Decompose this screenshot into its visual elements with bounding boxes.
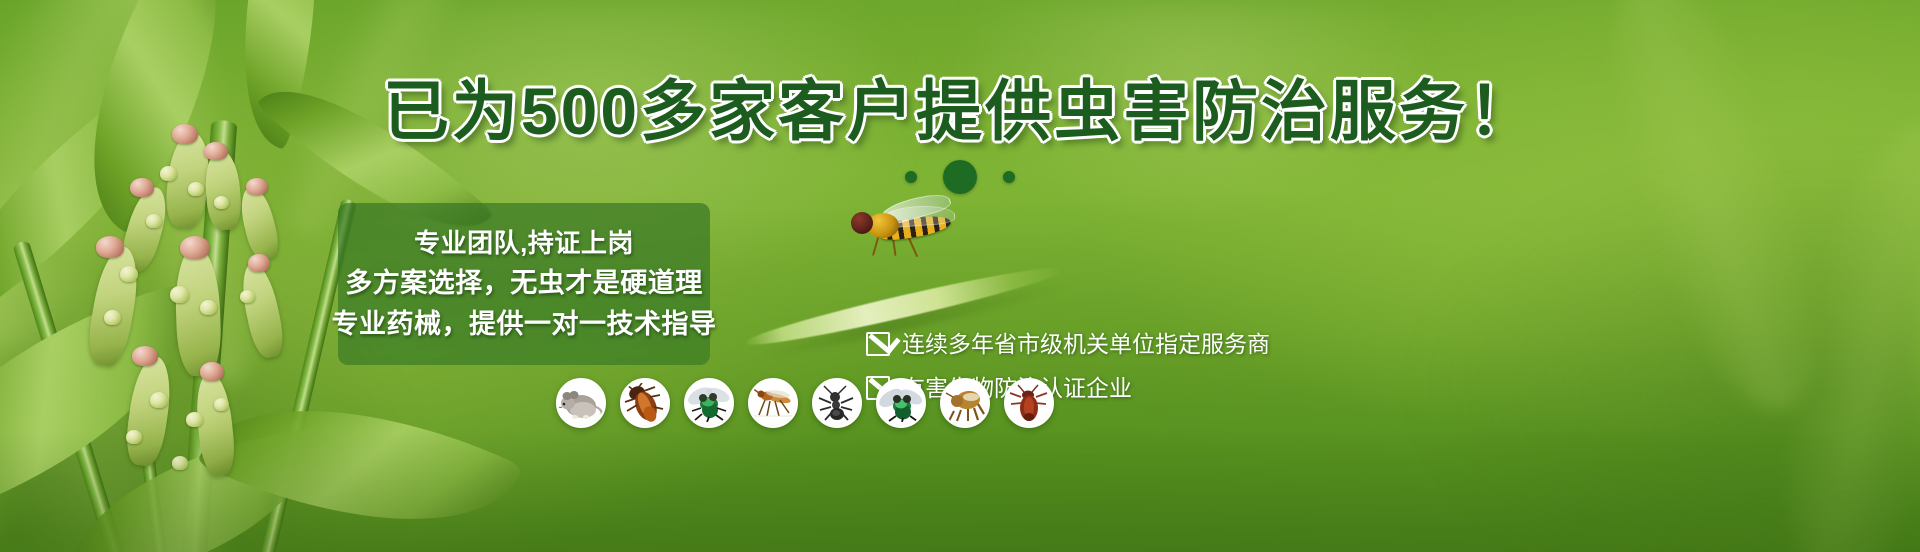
dot-large-center-icon [943,160,977,194]
pest-type-icon-row [556,378,1054,428]
slogan-line-3: 专业药械，提供一对一技术指导 [332,311,717,338]
green-fly-icon[interactable] [684,378,734,428]
mouse-icon[interactable] [556,378,606,428]
slogan-line-1: 专业团队,持证上岗 [414,230,634,256]
flea-icon[interactable] [940,378,990,428]
dot-small-right-icon [1003,171,1015,183]
slogan-panel: 专业团队,持证上岗 多方案选择，无虫才是硬道理 专业药械，提供一对一技术指导 [338,203,710,365]
checkbox-checked-icon [866,332,890,356]
pest-control-hero-banner: 已为500多家客户提供虫害防治服务！ 专业团队,持证上岗 多方案选择，无虫才是硬… [0,0,1920,552]
hoverfly-icon [845,196,970,258]
bedbug-icon[interactable] [1004,378,1054,428]
mosquito-icon[interactable] [748,378,798,428]
slogan-line-2: 多方案选择，无虫才是硬道理 [345,270,703,297]
fly-icon[interactable] [876,378,926,428]
checklist-item: 连续多年省市级机关单位指定服务商 [866,332,1270,356]
ant-icon[interactable] [812,378,862,428]
decorative-dot-separator [0,160,1920,194]
checklist-item-label: 连续多年省市级机关单位指定服务商 [902,333,1270,356]
banner-headline: 已为500多家客户提供虫害防治服务！ [0,78,1920,144]
hoverfly-head [851,212,873,234]
dot-small-left-icon [905,171,917,183]
cockroach-icon[interactable] [620,378,670,428]
